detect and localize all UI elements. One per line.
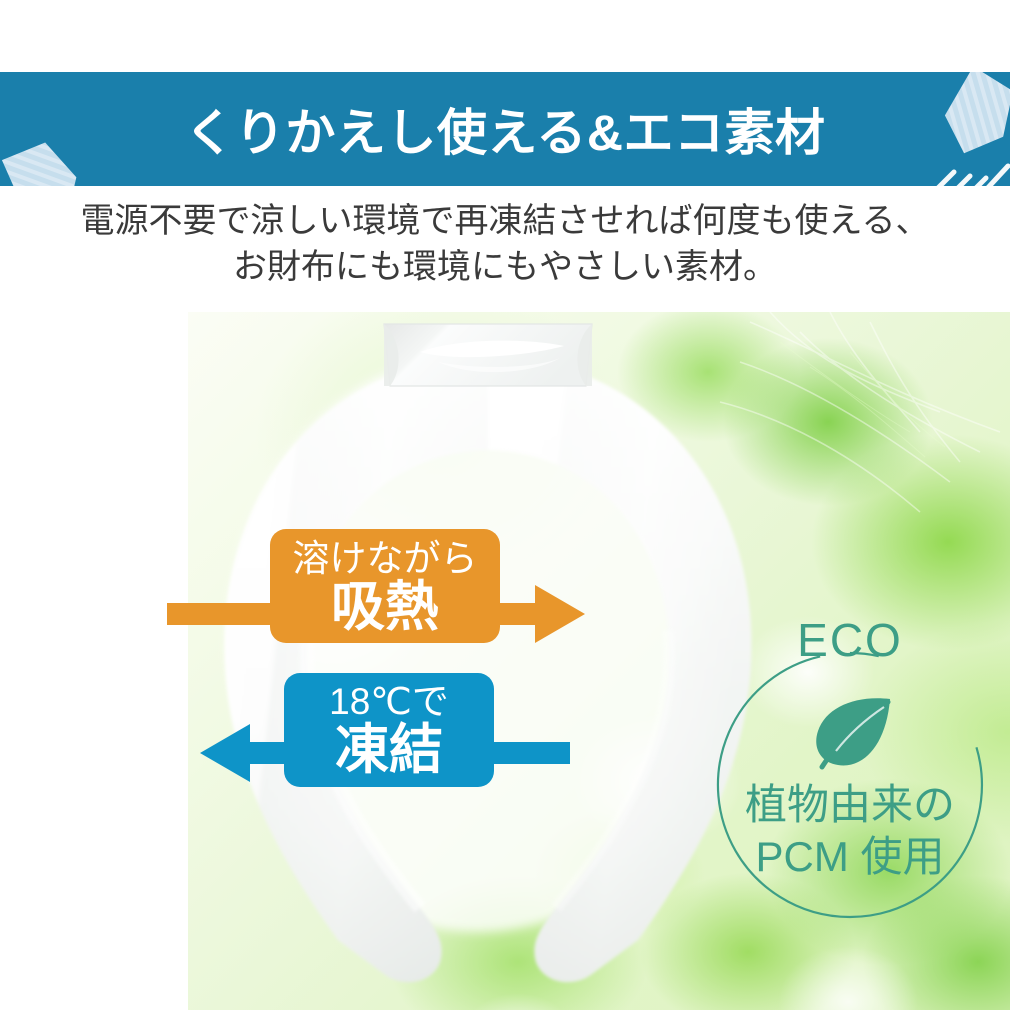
- subtitle: 電源不要で涼しい環境で再凍結させれば何度も使える、 お財布にも環境にもやさしい素…: [0, 198, 1010, 290]
- freeze-small-label: 18℃で: [329, 682, 449, 722]
- subtitle-line-1: 電源不要で涼しい環境で再凍結させれば何度も使える、: [0, 198, 1010, 244]
- eco-description-line-1: 植物由来の: [716, 779, 984, 831]
- freeze-callout: 18℃で 凍結: [284, 673, 494, 787]
- leaf-vein-texture: [710, 312, 1010, 542]
- banner-title: くりかえし使える&エコ素材: [0, 72, 1010, 186]
- eco-description: 植物由来の PCM 使用: [716, 779, 984, 883]
- product-feature-page: くりかえし使える&エコ素材: [0, 0, 1010, 1010]
- header-banner: くりかえし使える&エコ素材: [0, 72, 1010, 186]
- eco-label: ECO: [716, 615, 984, 665]
- freeze-big-label: 凍結: [335, 722, 443, 778]
- subtitle-line-2: お財布にも環境にもやさしい素材。: [0, 244, 1010, 290]
- absorb-heat-callout: 溶けながら 吸熱: [270, 529, 500, 643]
- eco-description-line-2: PCM 使用: [716, 831, 984, 883]
- absorb-heat-small-label: 溶けながら: [293, 539, 478, 579]
- absorb-heat-big-label: 吸熱: [331, 579, 439, 635]
- leaf-icon: [804, 693, 896, 773]
- eco-badge: ECO 植物由来の PCM 使用: [716, 651, 984, 919]
